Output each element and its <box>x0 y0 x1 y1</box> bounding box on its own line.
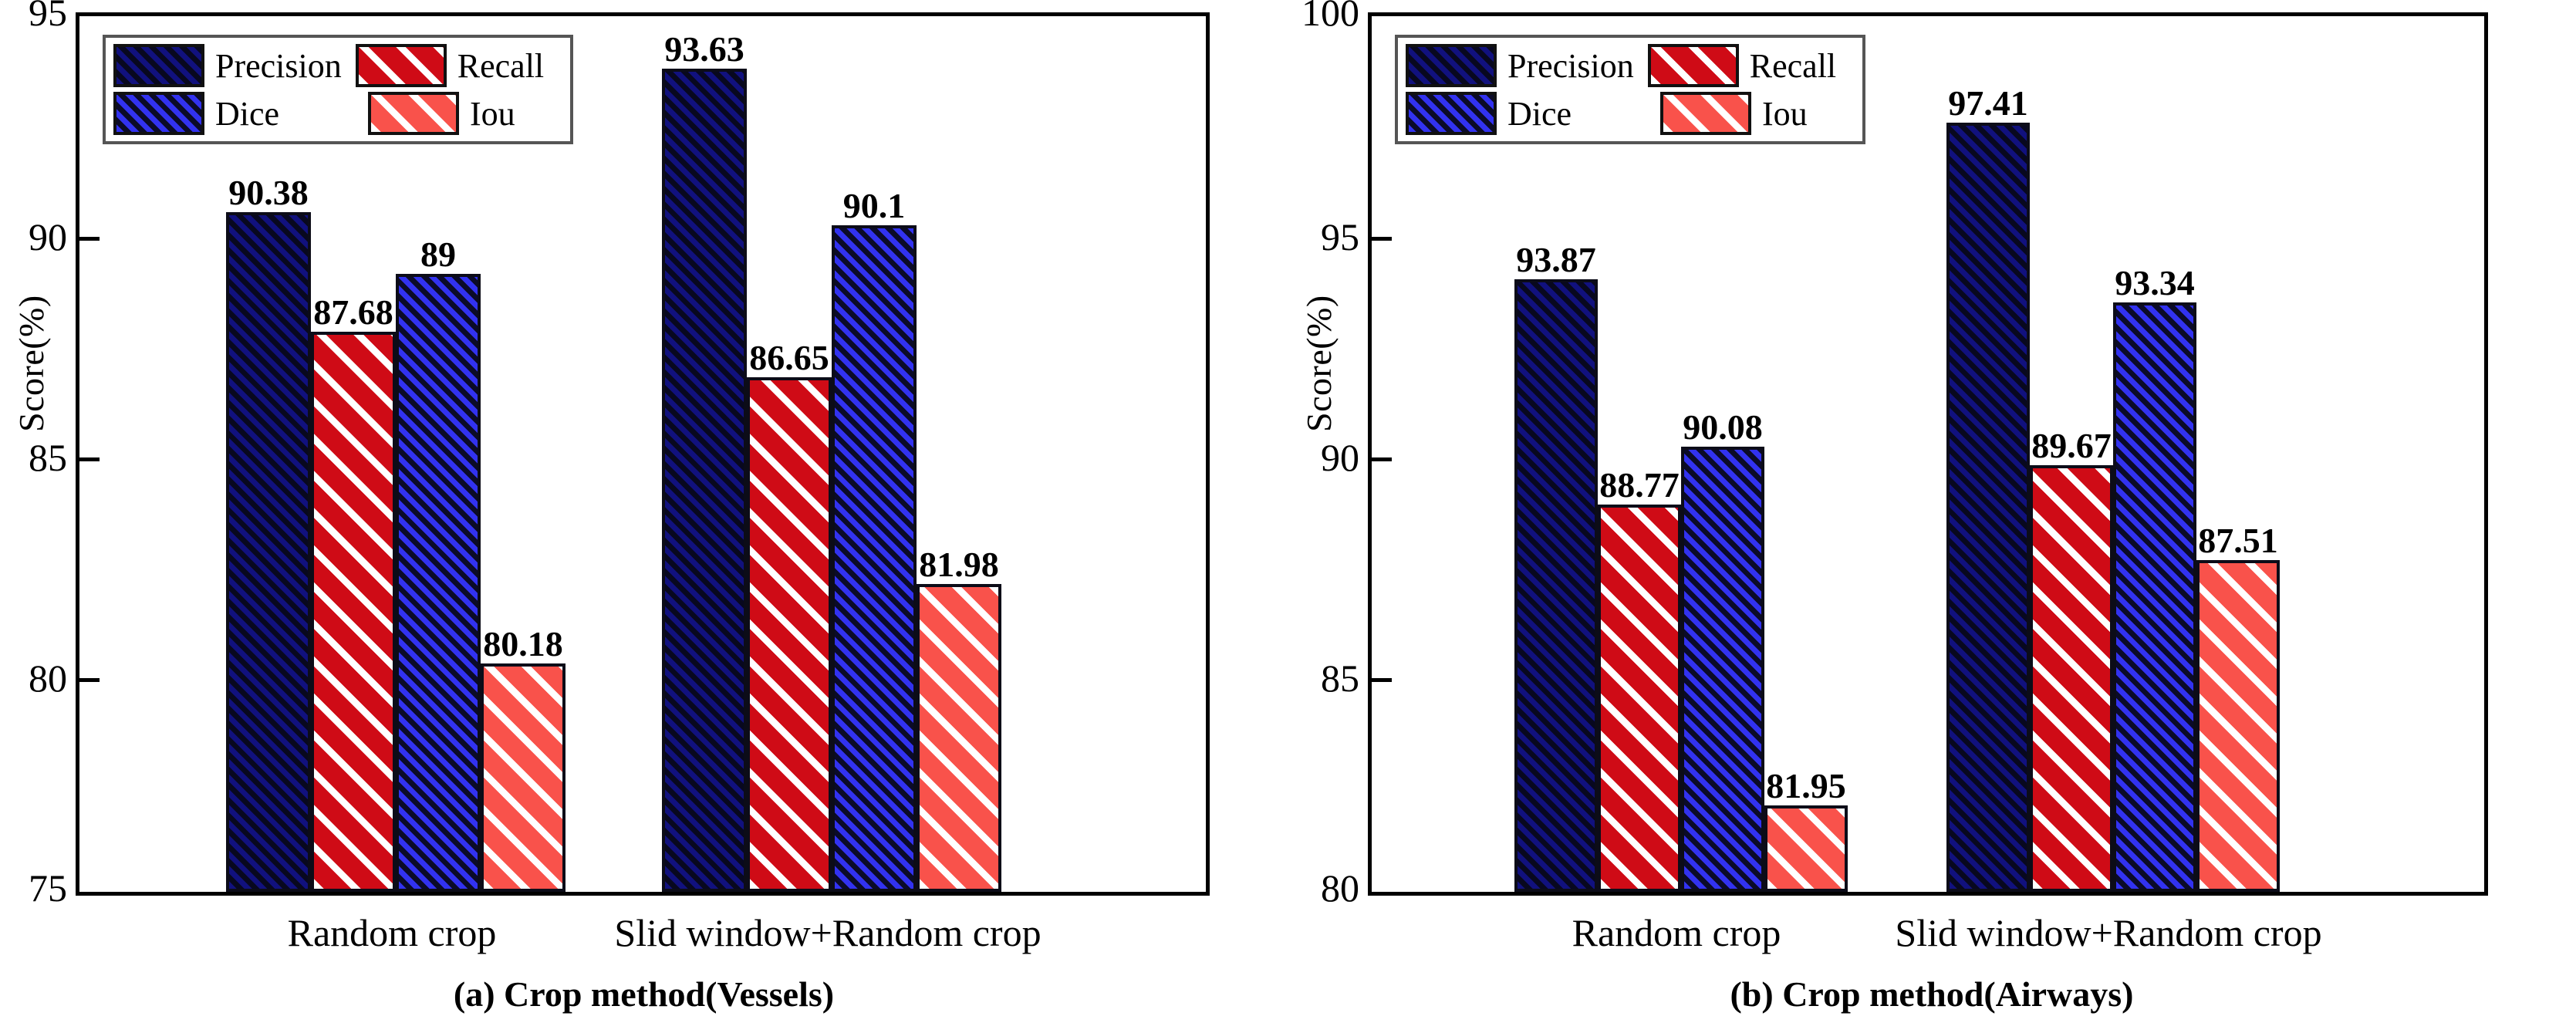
bar-a-slidwindow-recall[interactable]: 86.65 <box>747 377 832 892</box>
x-axis-labels-a: Random crop Slid window+Random crop <box>76 910 1210 960</box>
bar-group-a-slidwindow: 93.63 86.65 90.1 81.98 <box>662 16 1001 892</box>
bar-b-slidwindow-precision[interactable]: 97.41 <box>1946 123 2030 892</box>
precision-swatch <box>1406 44 1497 87</box>
plot-area-a: Precision Recall Dice Iou 95 90 85 <box>76 12 1210 896</box>
bar-b-randomcrop-precision[interactable]: 93.87 <box>1514 279 1598 892</box>
y-axis-title-b: Score(%) <box>1298 295 1339 432</box>
legend-label-dice: Dice <box>1507 94 1646 133</box>
dice-swatch <box>113 92 204 135</box>
bar-value-label: 80.18 <box>483 626 563 662</box>
bar-a-randomcrop-precision[interactable]: 90.38 <box>226 212 311 892</box>
bar-a-slidwindow-dice[interactable]: 90.1 <box>832 225 917 892</box>
x-label-a-slidwindow: Slid window+Random crop <box>614 910 1041 955</box>
bar-group-a-random-crop: 90.38 87.68 89 80.18 <box>226 16 566 892</box>
x-label-a-random-crop: Random crop <box>288 910 497 955</box>
bar-value-label: 90.08 <box>1683 410 1763 445</box>
bar-a-slidwindow-iou[interactable]: 81.98 <box>917 584 1001 892</box>
panel-a: Score(%) Precision Recall Dice Iou <box>0 0 1288 1033</box>
recall-swatch <box>1648 44 1739 87</box>
legend-label-iou: Iou <box>470 94 515 133</box>
bar-b-slidwindow-iou[interactable]: 87.51 <box>2196 560 2280 892</box>
panel-caption-b: (b) Crop method(Airways) <box>1288 974 2576 1014</box>
x-axis-labels-b: Random crop Slid window+Random crop <box>1368 910 2488 960</box>
legend-label-dice: Dice <box>215 94 354 133</box>
bar-value-label: 81.98 <box>919 547 999 582</box>
legend-label-iou: Iou <box>1762 94 1808 133</box>
x-label-b-random-crop: Random crop <box>1572 910 1781 955</box>
legend-b: Precision Recall Dice Iou <box>1395 35 1865 144</box>
bar-value-label: 81.95 <box>1766 768 1846 804</box>
bar-value-label: 89 <box>420 237 456 272</box>
bar-value-label: 90.38 <box>228 175 309 211</box>
bar-value-label: 88.77 <box>1599 468 1680 503</box>
bars-a: 90.38 87.68 89 80.18 93.63 <box>79 16 1206 892</box>
bar-a-slidwindow-precision[interactable]: 93.63 <box>662 69 747 892</box>
bar-value-label: 93.34 <box>2115 265 2195 301</box>
bar-b-randomcrop-iou[interactable]: 81.95 <box>1764 805 1848 892</box>
bar-b-slidwindow-recall[interactable]: 89.67 <box>2030 465 2113 892</box>
bar-value-label: 93.63 <box>664 32 744 67</box>
bar-a-randomcrop-iou[interactable]: 80.18 <box>481 663 566 892</box>
bar-value-label: 89.67 <box>2031 428 2112 464</box>
x-label-b-slidwindow: Slid window+Random crop <box>1895 910 2321 955</box>
dice-swatch <box>1406 92 1497 135</box>
panel-b: Score(%) Precision Recall Dice Iou <box>1288 0 2576 1033</box>
bar-value-label: 87.51 <box>2198 523 2278 559</box>
bar-value-label: 97.41 <box>1948 86 2028 121</box>
bar-value-label: 86.65 <box>749 340 829 376</box>
legend-label-recall: Recall <box>1750 46 1836 86</box>
figure-root: Score(%) Precision Recall Dice Iou <box>0 0 2576 1033</box>
bar-value-label: 93.87 <box>1516 242 1596 278</box>
legend-label-precision: Precision <box>1507 46 1634 86</box>
bar-group-b-slidwindow: 97.41 89.67 93.34 87.51 <box>1946 16 2280 892</box>
bar-a-randomcrop-dice[interactable]: 89 <box>396 274 481 892</box>
bar-b-randomcrop-dice[interactable]: 90.08 <box>1681 447 1764 892</box>
bar-value-label: 87.68 <box>313 295 393 330</box>
panel-caption-a: (a) Crop method(Vessels) <box>0 974 1288 1014</box>
recall-swatch <box>356 44 447 87</box>
plot-area-b: Precision Recall Dice Iou 100 95 90 <box>1368 12 2488 896</box>
bar-b-slidwindow-dice[interactable]: 93.34 <box>2113 302 2196 892</box>
bar-b-randomcrop-recall[interactable]: 88.77 <box>1598 505 1681 892</box>
bars-b: 93.87 88.77 90.08 81.95 97.41 <box>1372 16 2484 892</box>
bar-value-label: 90.1 <box>843 188 906 224</box>
iou-swatch <box>368 92 459 135</box>
y-axis-title-a: Score(%) <box>11 295 52 432</box>
bar-group-b-random-crop: 93.87 88.77 90.08 81.95 <box>1514 16 1848 892</box>
legend-a: Precision Recall Dice Iou <box>103 35 573 144</box>
legend-label-recall: Recall <box>457 46 544 86</box>
bar-a-randomcrop-recall[interactable]: 87.68 <box>311 332 396 892</box>
iou-swatch <box>1660 92 1751 135</box>
legend-label-precision: Precision <box>215 46 342 86</box>
precision-swatch <box>113 44 204 87</box>
